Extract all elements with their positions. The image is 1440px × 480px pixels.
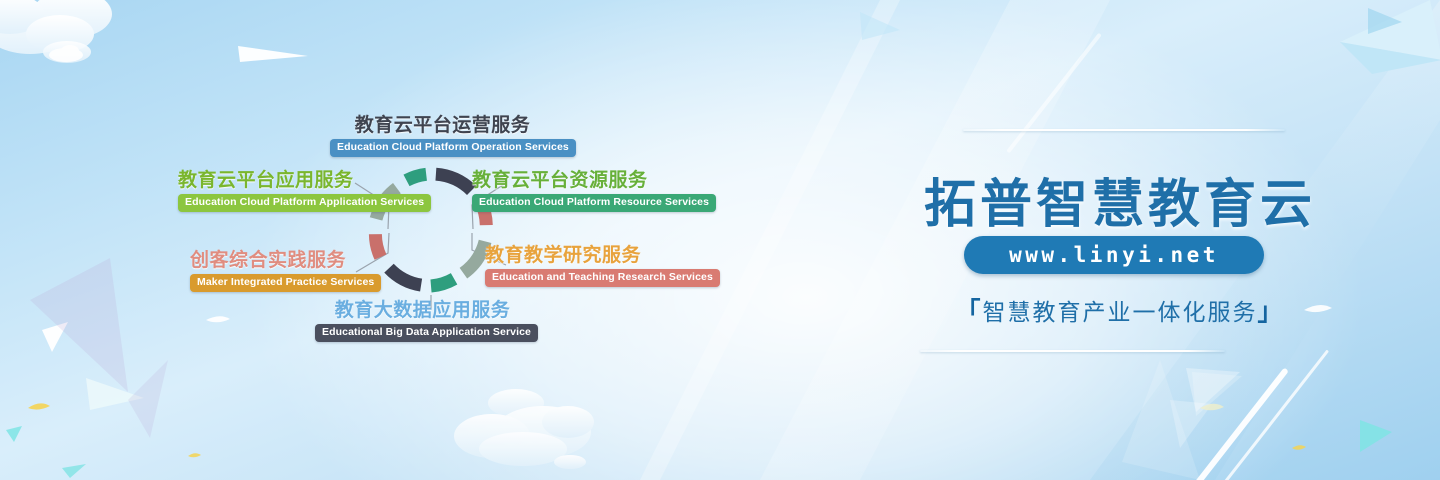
service-label-cn: 教育云平台资源服务 xyxy=(472,170,716,192)
service-label-en: Maker Integrated Practice Services xyxy=(190,274,381,293)
brand-title: 拓普智慧教育云 xyxy=(800,162,1440,237)
brand-block: 拓普智慧教育云 www.linyi.net 「智慧教育产业一体化服务」 xyxy=(800,0,1440,480)
bracket-open-icon: 「 xyxy=(955,298,982,326)
divider-bottom xyxy=(920,350,1225,352)
cloud-bottom-center xyxy=(454,389,594,469)
service-label-cn: 教育云平台应用服务 xyxy=(178,170,431,192)
service-label-en: Education Cloud Platform Operation Servi… xyxy=(330,139,576,158)
cloud-small-left xyxy=(49,45,83,62)
service-label-operation[interactable]: 教育云平台运营服务 Education Cloud Platform Opera… xyxy=(330,115,555,157)
website-pill[interactable]: www.linyi.net xyxy=(964,236,1264,274)
service-label-en: Educational Big Data Application Service xyxy=(315,324,538,343)
services-diagram: 教育云平台运营服务 Education Cloud Platform Opera… xyxy=(150,105,710,355)
cloud-top-left xyxy=(0,0,112,63)
service-label-en: Education and Teaching Research Services xyxy=(485,269,720,288)
divider-top xyxy=(963,129,1285,131)
website-url: www.linyi.net xyxy=(964,236,1264,274)
service-label-application[interactable]: 教育云平台应用服务 Education Cloud Platform Appli… xyxy=(178,170,431,212)
service-label-maker[interactable]: 创客综合实践服务 Maker Integrated Practice Servi… xyxy=(190,250,381,292)
service-label-cn: 教育云平台运营服务 xyxy=(330,115,555,137)
service-label-research[interactable]: 教育教学研究服务 Education and Teaching Research… xyxy=(485,245,720,287)
service-label-cn: 教育教学研究服务 xyxy=(485,245,720,267)
service-label-resource[interactable]: 教育云平台资源服务 Education Cloud Platform Resou… xyxy=(472,170,716,212)
brand-tagline: 「智慧教育产业一体化服务」 xyxy=(800,292,1440,328)
service-label-bigdata[interactable]: 教育大数据应用服务 Educational Big Data Applicati… xyxy=(315,300,530,342)
service-label-en: Education Cloud Platform Resource Servic… xyxy=(472,194,716,213)
service-label-en: Education Cloud Platform Application Ser… xyxy=(178,194,431,213)
promo-banner: 教育云平台运营服务 Education Cloud Platform Opera… xyxy=(0,0,1440,480)
service-label-cn: 创客综合实践服务 xyxy=(190,250,381,272)
tagline-text: 智慧教育产业一体化服务 xyxy=(983,299,1258,325)
service-label-cn: 教育大数据应用服务 xyxy=(315,300,530,322)
bracket-close-icon: 」 xyxy=(1258,298,1285,326)
